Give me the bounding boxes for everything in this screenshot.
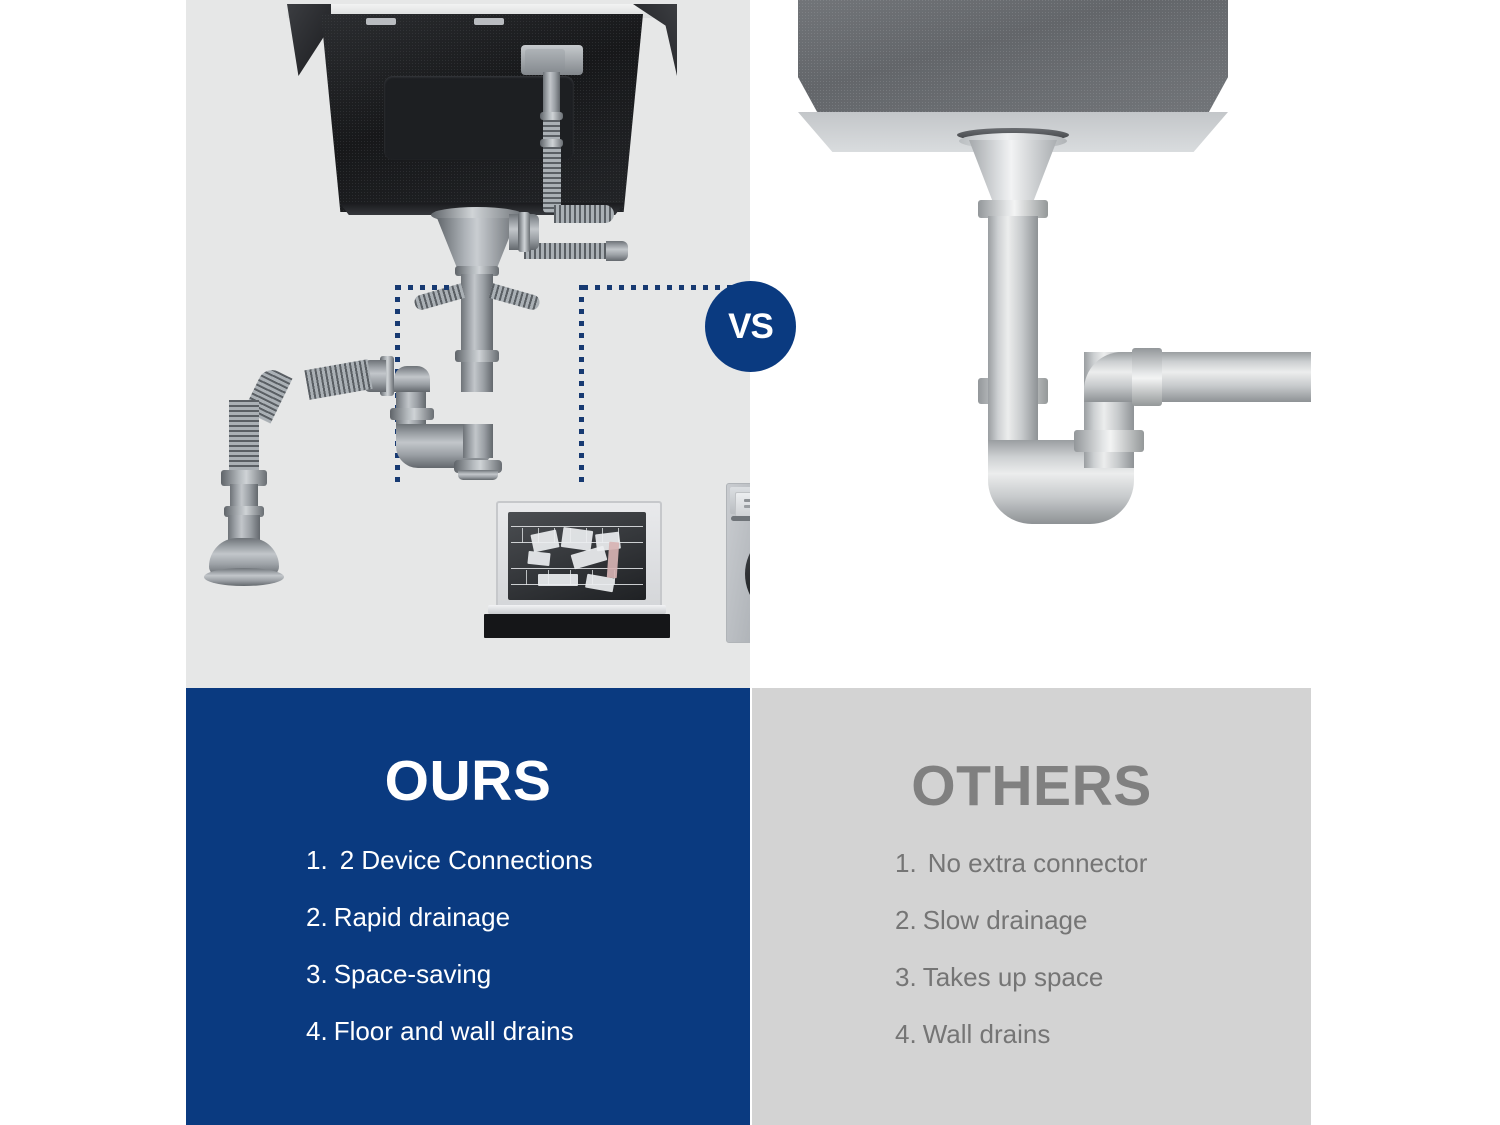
overflow-hose-bend	[554, 205, 614, 223]
drain-tailpiece	[461, 274, 493, 354]
washing-machine-control-panel	[730, 487, 750, 514]
ours-item-number: 4.	[306, 1016, 328, 1046]
others-item-text: Takes up space	[923, 962, 1104, 992]
dotted-bracket-center	[579, 285, 584, 488]
others-feature-item: 4.Wall drains	[895, 1019, 1315, 1049]
ours-item-number: 2.	[306, 902, 328, 932]
others-title: OTHERS	[752, 758, 1311, 815]
others-item-text: Slow drainage	[923, 905, 1088, 935]
others-feature-list: 1.No extra connector 2.Slow drainage 3.T…	[895, 848, 1315, 1076]
others-item-number: 3.	[895, 962, 917, 992]
dishwasher-dish	[530, 529, 559, 552]
dishwasher-dish	[561, 527, 593, 551]
ours-item-text: 2 Device Connections	[340, 845, 593, 875]
dishwasher-dish	[571, 546, 608, 570]
overflow-spigot	[521, 45, 583, 75]
trap-elbow	[394, 366, 430, 392]
dishwasher-rack	[511, 526, 643, 527]
ours-item-number: 3.	[306, 959, 328, 989]
dishwasher-base	[484, 614, 670, 638]
overflow-collar	[540, 139, 563, 147]
others-item-text: No extra connector	[928, 848, 1148, 878]
others-item-number: 1.	[895, 848, 917, 878]
competitor-horizontal-wall-drain	[1138, 352, 1311, 402]
side-inlet-collar	[518, 212, 530, 252]
floor-drain-base-flange	[204, 568, 284, 586]
trap-left-nut	[390, 408, 434, 420]
drain-funnel	[437, 218, 517, 270]
vs-badge: VS	[705, 281, 796, 372]
sink-mount-clip	[474, 18, 504, 25]
trap-right-riser	[463, 424, 493, 458]
dishwasher-tine	[522, 528, 523, 543]
dotted-bracket-top-left	[396, 285, 456, 290]
overflow-hose-end	[606, 241, 628, 261]
dishwasher-body	[496, 501, 662, 615]
trap-outlet	[458, 470, 498, 480]
overflow-collar	[540, 112, 563, 120]
washing-machine-handle	[731, 516, 750, 521]
connector-port-right	[489, 283, 541, 311]
others-image-panel	[750, 0, 1311, 688]
ours-item-text: Space-saving	[334, 959, 492, 989]
ours-feature-item: 1.2 Device Connections	[306, 845, 726, 875]
ours-item-text: Rapid drainage	[334, 902, 510, 932]
others-item-text: Wall drains	[923, 1019, 1051, 1049]
ours-item-number: 1.	[306, 845, 328, 875]
overflow-pipe	[543, 72, 560, 114]
trap-inlet-nut	[455, 350, 499, 362]
competitor-outlet-nut	[1132, 348, 1162, 406]
others-item-number: 2.	[895, 905, 917, 935]
others-item-number: 4.	[895, 1019, 917, 1049]
ours-title: OURS	[186, 753, 750, 810]
dishwasher	[484, 501, 670, 638]
vs-badge-label: VS	[728, 309, 773, 344]
competitor-tailpiece	[988, 216, 1038, 358]
detergent-drawer	[735, 492, 750, 517]
sink-mount-clip	[366, 18, 396, 25]
overflow-corrugated-hose	[543, 147, 561, 213]
washing-machine	[726, 483, 750, 643]
dishwasher-dish	[538, 574, 578, 586]
others-feature-item: 2.Slow drainage	[895, 905, 1315, 935]
ours-feature-item: 2.Rapid drainage	[306, 902, 726, 932]
ours-item-text: Floor and wall drains	[334, 1016, 574, 1046]
ours-image-panel	[186, 0, 750, 688]
dishwasher-tine	[526, 570, 527, 585]
competitor-trap-right-nut	[1074, 430, 1144, 452]
dishwasher-dish	[527, 551, 550, 566]
others-feature-item: 3.Takes up space	[895, 962, 1315, 992]
others-feature-item: 1.No extra connector	[895, 848, 1315, 878]
ours-feature-list: 1.2 Device Connections 2.Rapid drainage …	[306, 845, 726, 1073]
dishwasher-utensil	[607, 542, 619, 579]
floor-drain-hose-upper	[304, 359, 372, 400]
competitor-drain-funnel	[969, 140, 1057, 204]
comparison-infographic: VS OURS OTHERS 1.2 Device Connections 2.…	[0, 0, 1500, 1125]
dishwasher-door-edge	[488, 605, 666, 614]
dishwasher-tub	[508, 512, 646, 600]
ours-feature-item: 3.Space-saving	[306, 959, 726, 989]
ours-feature-item: 4.Floor and wall drains	[306, 1016, 726, 1046]
floor-drain-hose-lower	[229, 400, 259, 478]
